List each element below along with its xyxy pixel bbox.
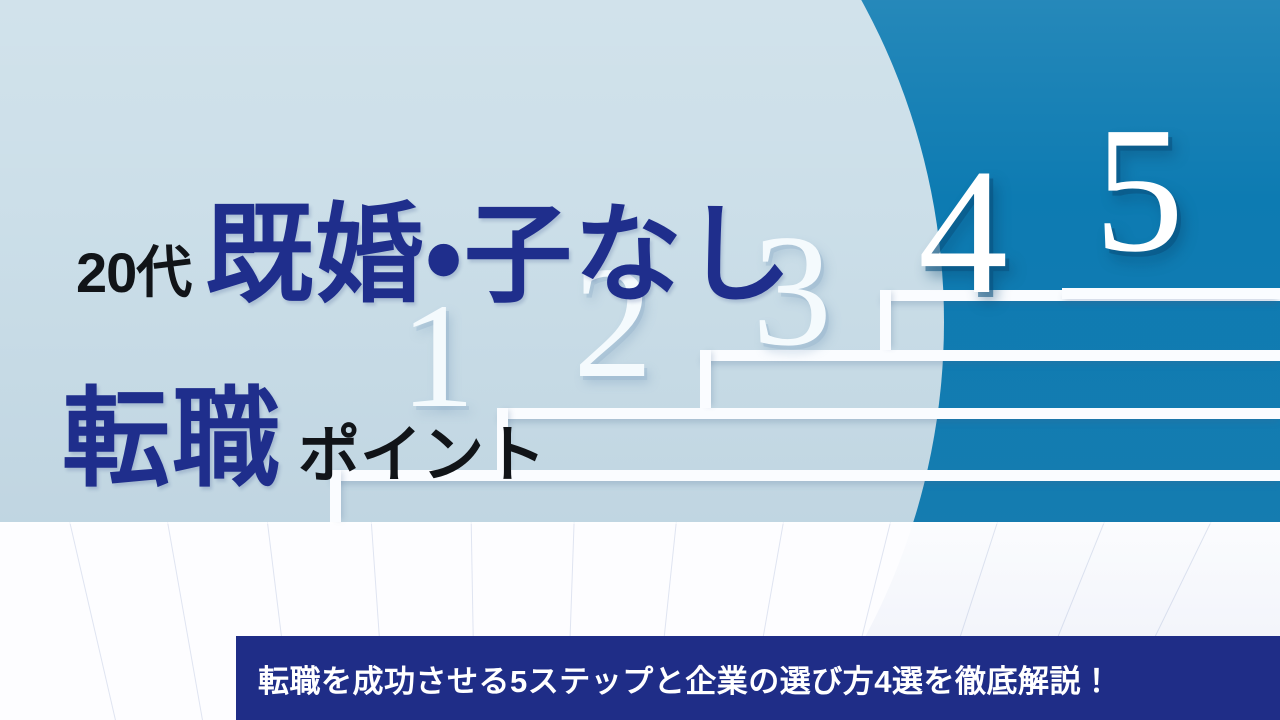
- headline-line-1: 20代 既婚・子なし: [76, 168, 794, 324]
- headline-kicker: 20代: [76, 228, 191, 309]
- headline-emphasis-1: 既婚・子なし: [205, 168, 794, 324]
- headline-suffix: ポイント: [298, 404, 546, 494]
- bottom-banner: 転職を成功させる5ステップと企業の選び方4選を徹底解説！: [236, 636, 1280, 720]
- thumbnail-canvas: 1 2 3 4 5 20代 既婚・子なし 転職 ポイント 転職を成功させる5ステ…: [0, 0, 1280, 720]
- headline-group: 20代 既婚・子なし 転職 ポイント: [0, 0, 1280, 522]
- wall-floor-edge: [0, 522, 1280, 524]
- banner-text: 転職を成功させる5ステップと企業の選び方4選を徹底解説！: [236, 656, 1112, 701]
- headline-line-2: 転職 ポイント: [62, 352, 546, 508]
- headline-emphasis-2: 転職: [62, 352, 282, 508]
